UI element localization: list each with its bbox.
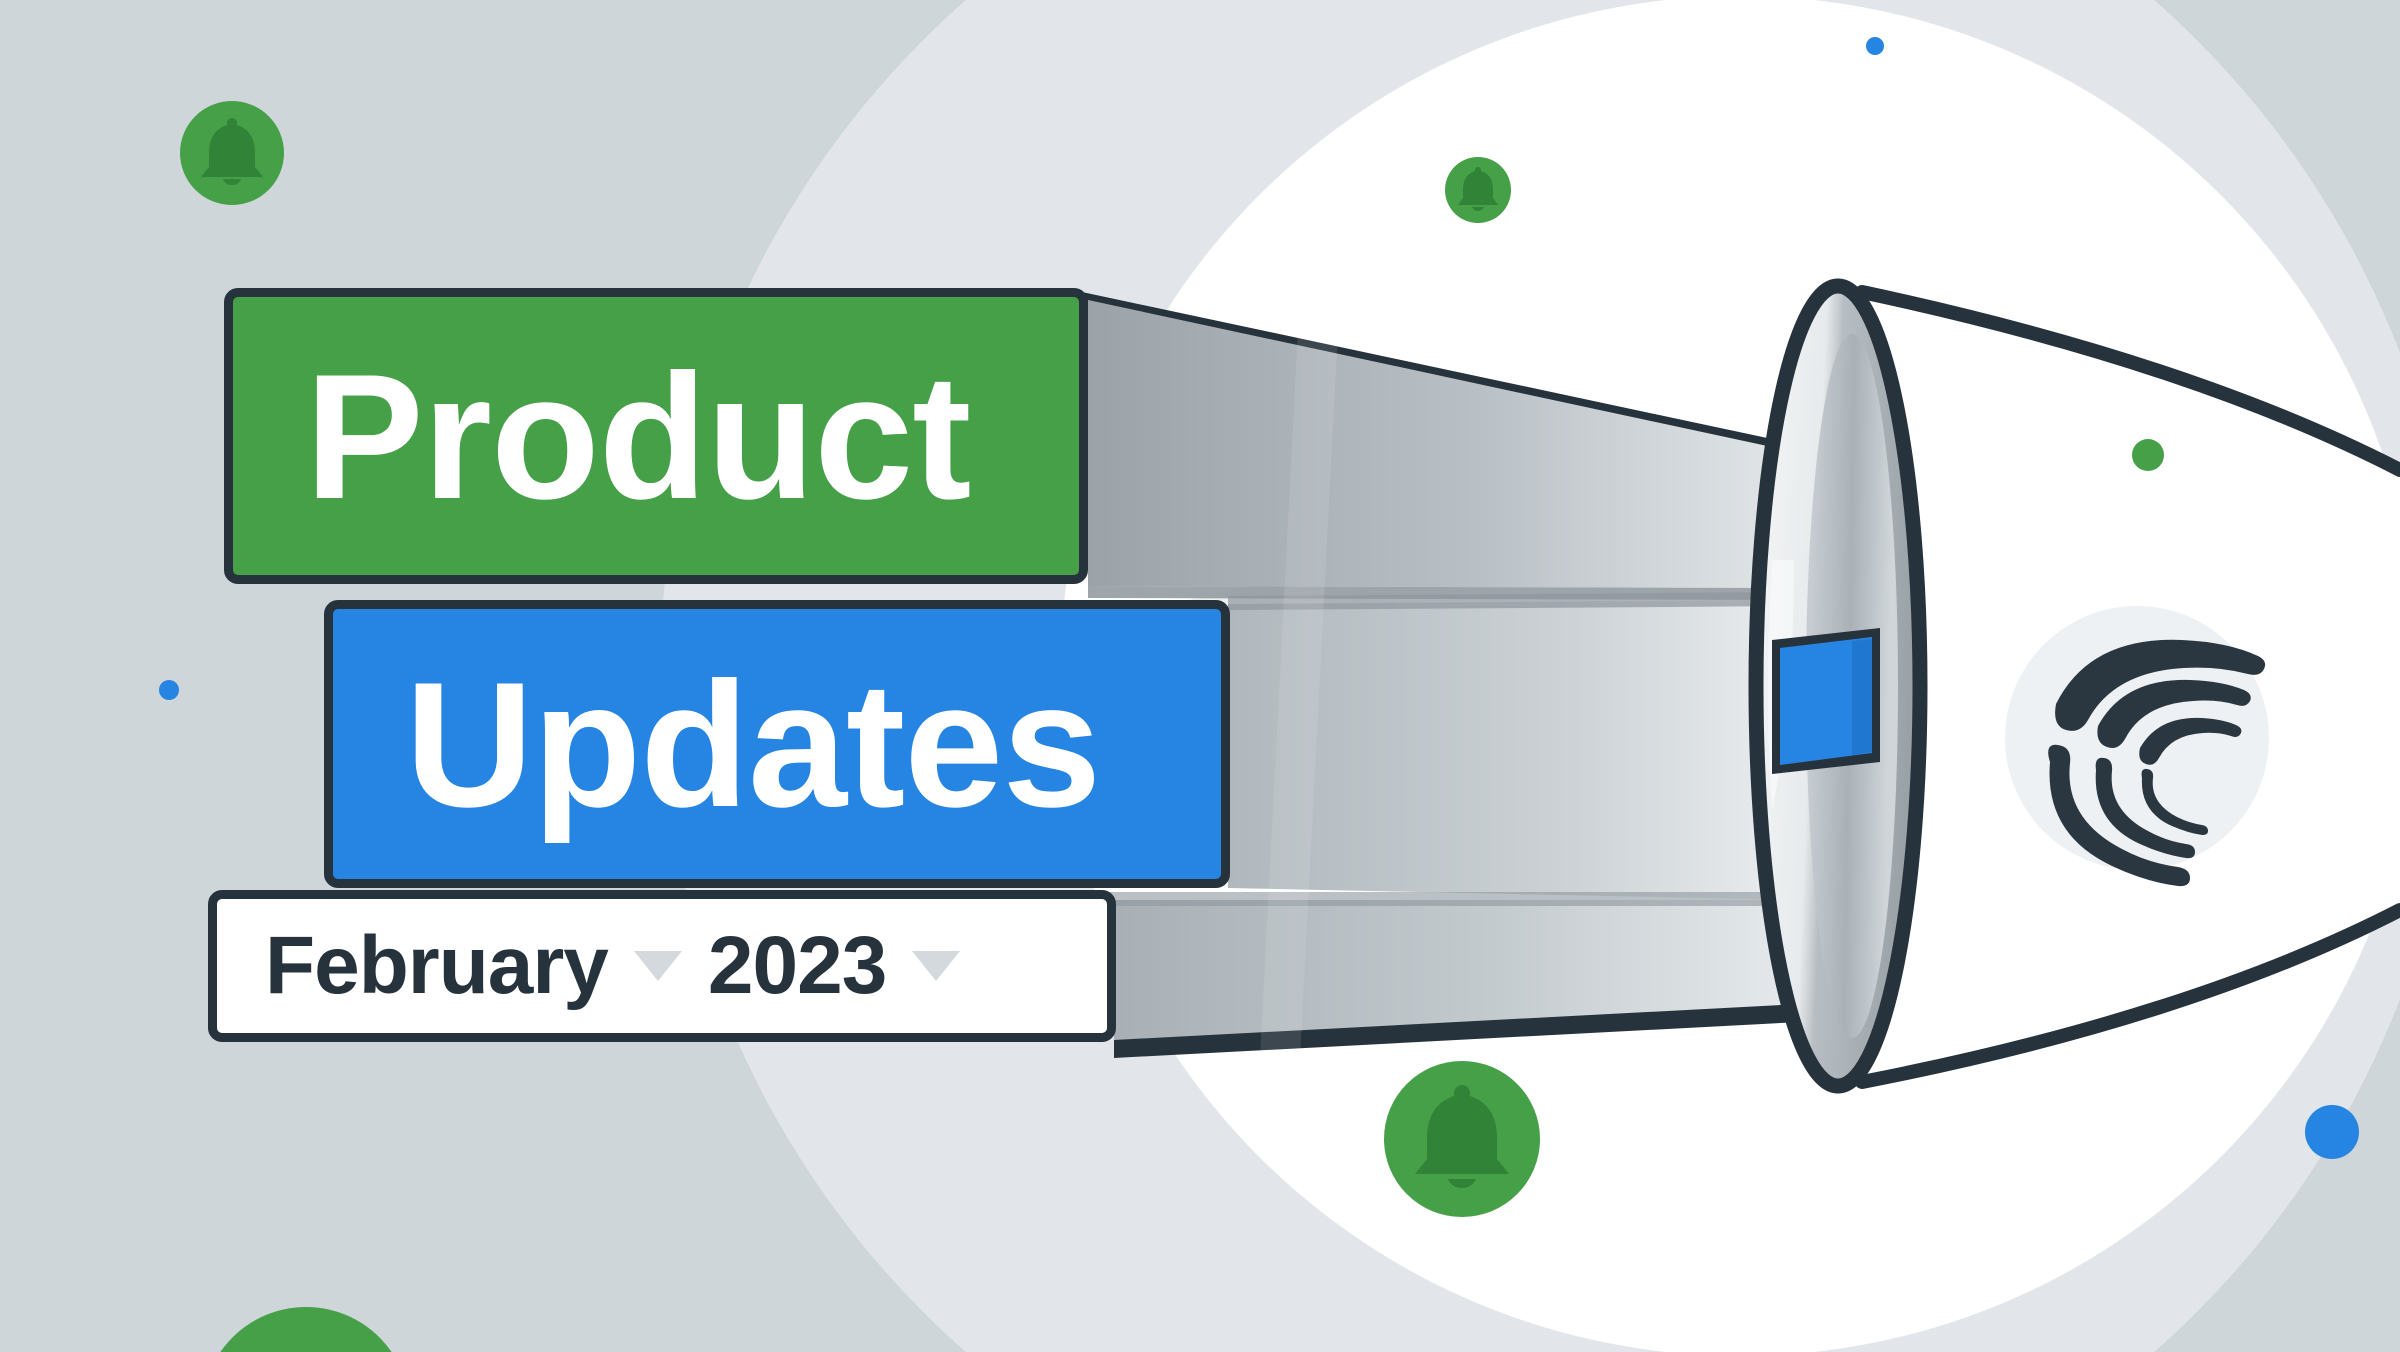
dot-blue-left — [159, 680, 179, 700]
banner-canvas: Product Updates February 2023 — [0, 0, 2400, 1352]
year-value[interactable]: 2023 — [708, 925, 886, 1007]
dot-green-on-cone — [2132, 439, 2164, 471]
bell-badge-bottom — [1384, 1061, 1540, 1217]
card-product-label: Product — [305, 334, 970, 539]
card-product: Product — [224, 288, 1088, 584]
month-value[interactable]: February — [265, 925, 608, 1007]
green-circle-bottom-left — [202, 1307, 410, 1352]
chevron-down-icon-year[interactable] — [912, 951, 960, 981]
blue-panel — [1772, 628, 1880, 774]
bell-badge-top-left — [180, 101, 284, 205]
dot-blue-bottom-right — [2305, 1105, 2359, 1159]
dot-blue-top-right — [1866, 37, 1884, 55]
bell-badge-top-center — [1445, 157, 1511, 223]
card-updates-label: Updates — [405, 642, 1100, 847]
card-date-selector[interactable]: February 2023 — [208, 890, 1116, 1042]
chevron-down-icon-month[interactable] — [634, 951, 682, 981]
card-updates: Updates — [324, 600, 1230, 888]
